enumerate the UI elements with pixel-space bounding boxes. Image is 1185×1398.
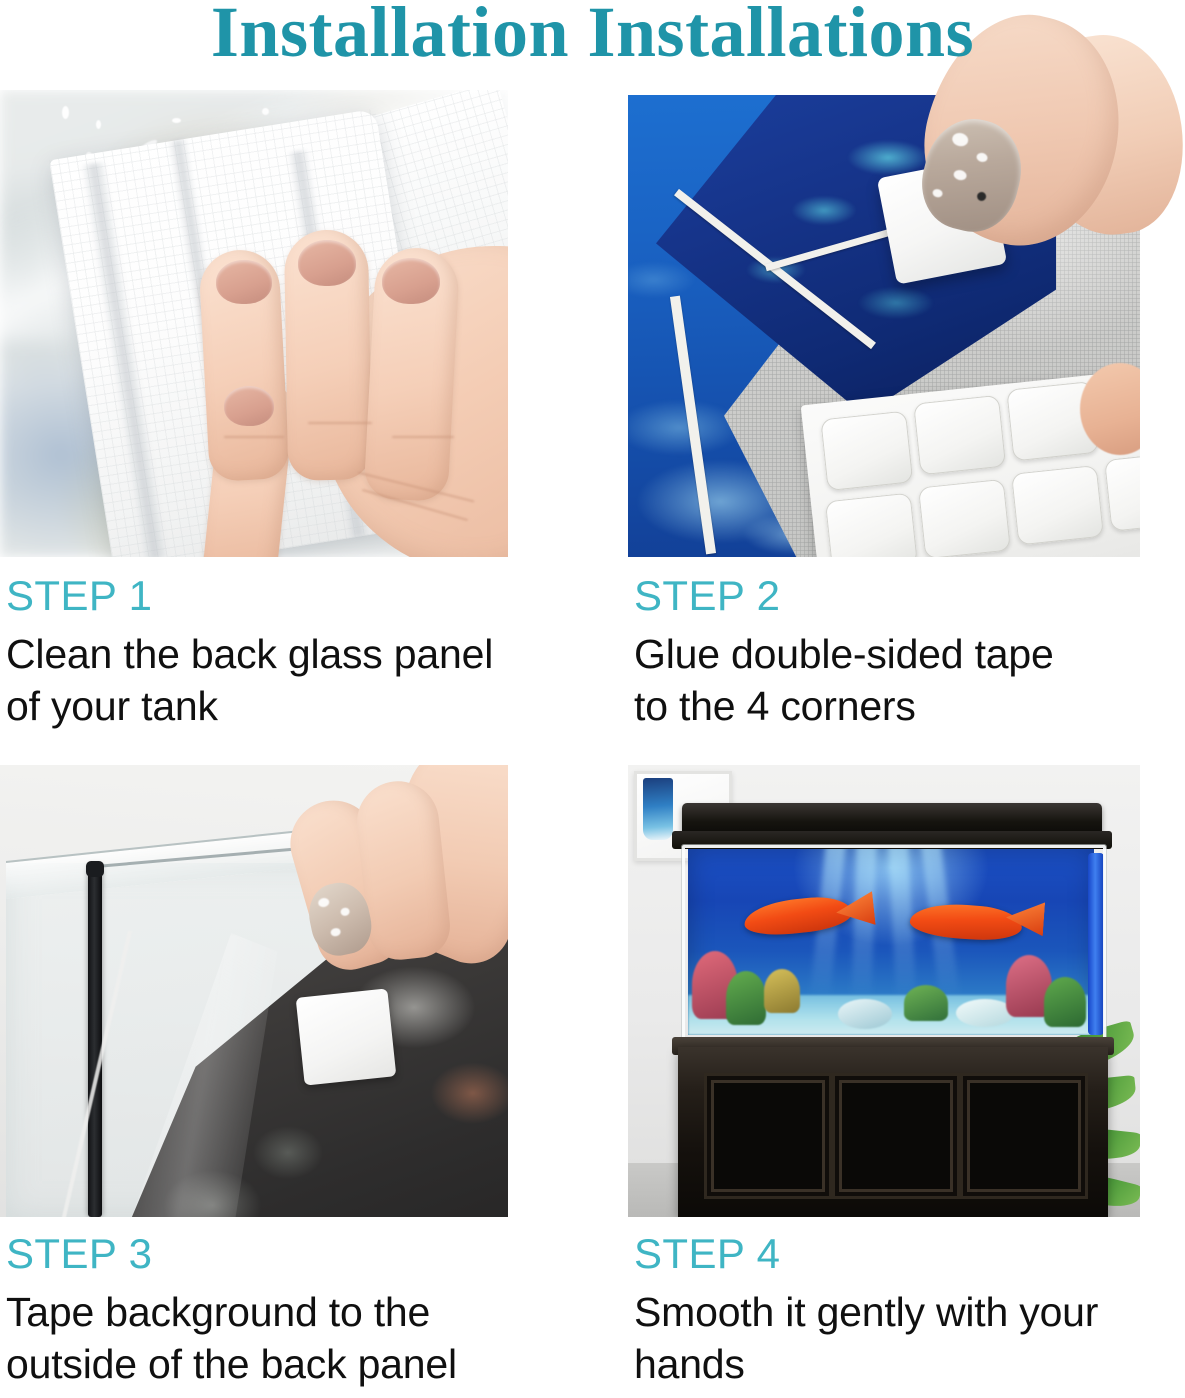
step-1-caption: STEP 1 Clean the back glass panel of you… [6, 570, 536, 732]
tape-square [918, 479, 1011, 557]
step-2-photo [628, 95, 1140, 557]
fingernail [382, 258, 440, 304]
knuckle-crease [308, 422, 372, 424]
step-4-caption: STEP 4 Smooth it gently with your hands [634, 1228, 1164, 1390]
steps-grid: STEP 1 Clean the back glass panel of you… [0, 0, 1185, 1398]
tank-glass-frame [682, 845, 1106, 1047]
water-droplet [62, 106, 69, 119]
tape-square-on-poster [296, 988, 397, 1085]
knuckle-crease [392, 436, 454, 438]
step-2-panel [628, 95, 1140, 557]
knuckle-crease [224, 436, 284, 438]
hand [292, 765, 508, 985]
step-1-label: STEP 1 [6, 570, 536, 622]
nail-glitter [953, 169, 968, 182]
step-2-text: Glue double-sided tape to the 4 corners [634, 628, 1164, 732]
tape-square [913, 395, 1006, 476]
water-droplet [262, 108, 269, 115]
nail-glitter [932, 188, 944, 198]
nail-glitter [951, 131, 970, 147]
nail-glitter [317, 897, 330, 908]
step-3-photo [0, 765, 508, 1217]
cabinet-door [960, 1073, 1088, 1199]
fingernail [298, 240, 356, 286]
step-3-panel [0, 765, 508, 1217]
cabinet-door [832, 1073, 960, 1199]
step-1-panel [0, 90, 508, 557]
nail-glitter [340, 907, 350, 917]
step-4-text: Smooth it gently with your hands [634, 1286, 1164, 1390]
tape-square [820, 411, 913, 492]
step-3-label: STEP 3 [6, 1228, 536, 1280]
tape-square [1104, 451, 1140, 532]
step-2-label: STEP 2 [634, 570, 1164, 622]
step-4-label: STEP 4 [634, 1228, 1164, 1280]
tank-corner-cap [86, 861, 104, 877]
tape-square [1011, 465, 1104, 546]
nail-glitter [976, 152, 989, 163]
step-4-photo [628, 765, 1140, 1217]
fingernail [224, 386, 274, 426]
water-droplet [172, 118, 181, 123]
step-3-text: Tape background to the outside of the ba… [6, 1286, 536, 1390]
hand [170, 186, 508, 557]
aquarium-cabinet-stand [678, 1047, 1108, 1217]
fingernail [216, 260, 272, 304]
step-1-text: Clean the back glass panel of your tank [6, 628, 536, 732]
wall-picture-art [643, 778, 673, 840]
tape-square [825, 493, 918, 557]
step-4-panel [628, 765, 1140, 1217]
water-droplet [96, 120, 101, 129]
nail-glitter [330, 927, 341, 937]
tank-black-edge-trim [88, 865, 102, 1217]
step-3-caption: STEP 3 Tape background to the outside of… [6, 1228, 536, 1390]
nail-dot [976, 191, 987, 202]
step-2-caption: STEP 2 Glue double-sided tape to the 4 c… [634, 570, 1164, 732]
cabinet-door [704, 1073, 832, 1199]
step-1-photo [0, 90, 508, 557]
